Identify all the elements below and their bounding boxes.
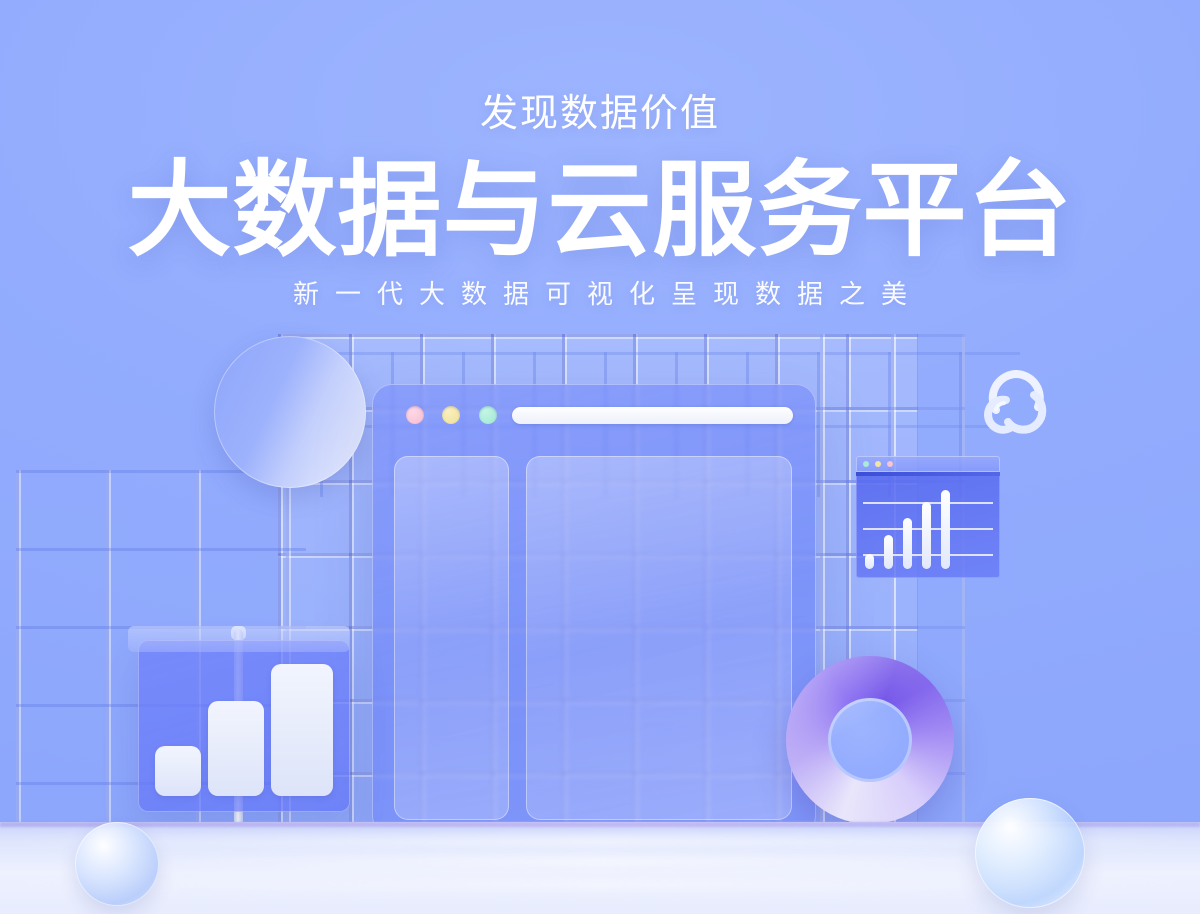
floor-streak xyxy=(120,856,1080,866)
display-card-header xyxy=(128,626,350,652)
hero-eyebrow: 发现数据价值 xyxy=(0,0,1200,133)
hero-copy: 发现数据价值 大数据与云服务平台 新一代大数据可视化呈现数据之美 xyxy=(0,0,1200,307)
browser-titlebar xyxy=(372,384,816,442)
chart-bar xyxy=(271,664,333,796)
hero-tagline: 新一代大数据可视化呈现数据之美 xyxy=(0,267,1200,307)
mini-window-titlebar xyxy=(856,456,1000,472)
address-bar-input[interactable] xyxy=(512,407,793,424)
chart-bar xyxy=(865,554,874,569)
chart-bar xyxy=(922,502,931,569)
chart-bars xyxy=(865,487,991,569)
chart-bar xyxy=(941,490,950,569)
maximize-dot[interactable] xyxy=(887,461,893,467)
glass-sphere-large xyxy=(975,798,1085,908)
chart-bar xyxy=(903,518,912,569)
minimize-dot[interactable] xyxy=(442,406,460,424)
display-card-bar-chart[interactable] xyxy=(138,640,350,812)
cloud-icon xyxy=(972,365,1066,443)
cloud-icon-svg xyxy=(972,365,1066,443)
page-title: 大数据与云服务平台 xyxy=(0,133,1200,267)
gradient-disc xyxy=(214,336,366,488)
donut-ring xyxy=(786,656,954,824)
content-panel[interactable] xyxy=(526,456,792,820)
chart-bar xyxy=(155,746,201,796)
chart-bar xyxy=(884,535,893,569)
mini-chart-window[interactable] xyxy=(856,456,1000,578)
close-dot[interactable] xyxy=(406,406,424,424)
sidebar-panel[interactable] xyxy=(394,456,509,820)
hero-banner: 发现数据价值 大数据与云服务平台 新一代大数据可视化呈现数据之美 xyxy=(0,0,1200,914)
chart-bar xyxy=(208,701,264,796)
browser-window-mockup[interactable] xyxy=(372,384,816,836)
chart-bars xyxy=(152,664,336,796)
minimize-dot[interactable] xyxy=(875,461,881,467)
glass-sphere-small xyxy=(75,822,159,906)
maximize-dot[interactable] xyxy=(479,406,497,424)
mini-window-bar-chart xyxy=(856,472,1000,578)
close-dot[interactable] xyxy=(863,461,869,467)
